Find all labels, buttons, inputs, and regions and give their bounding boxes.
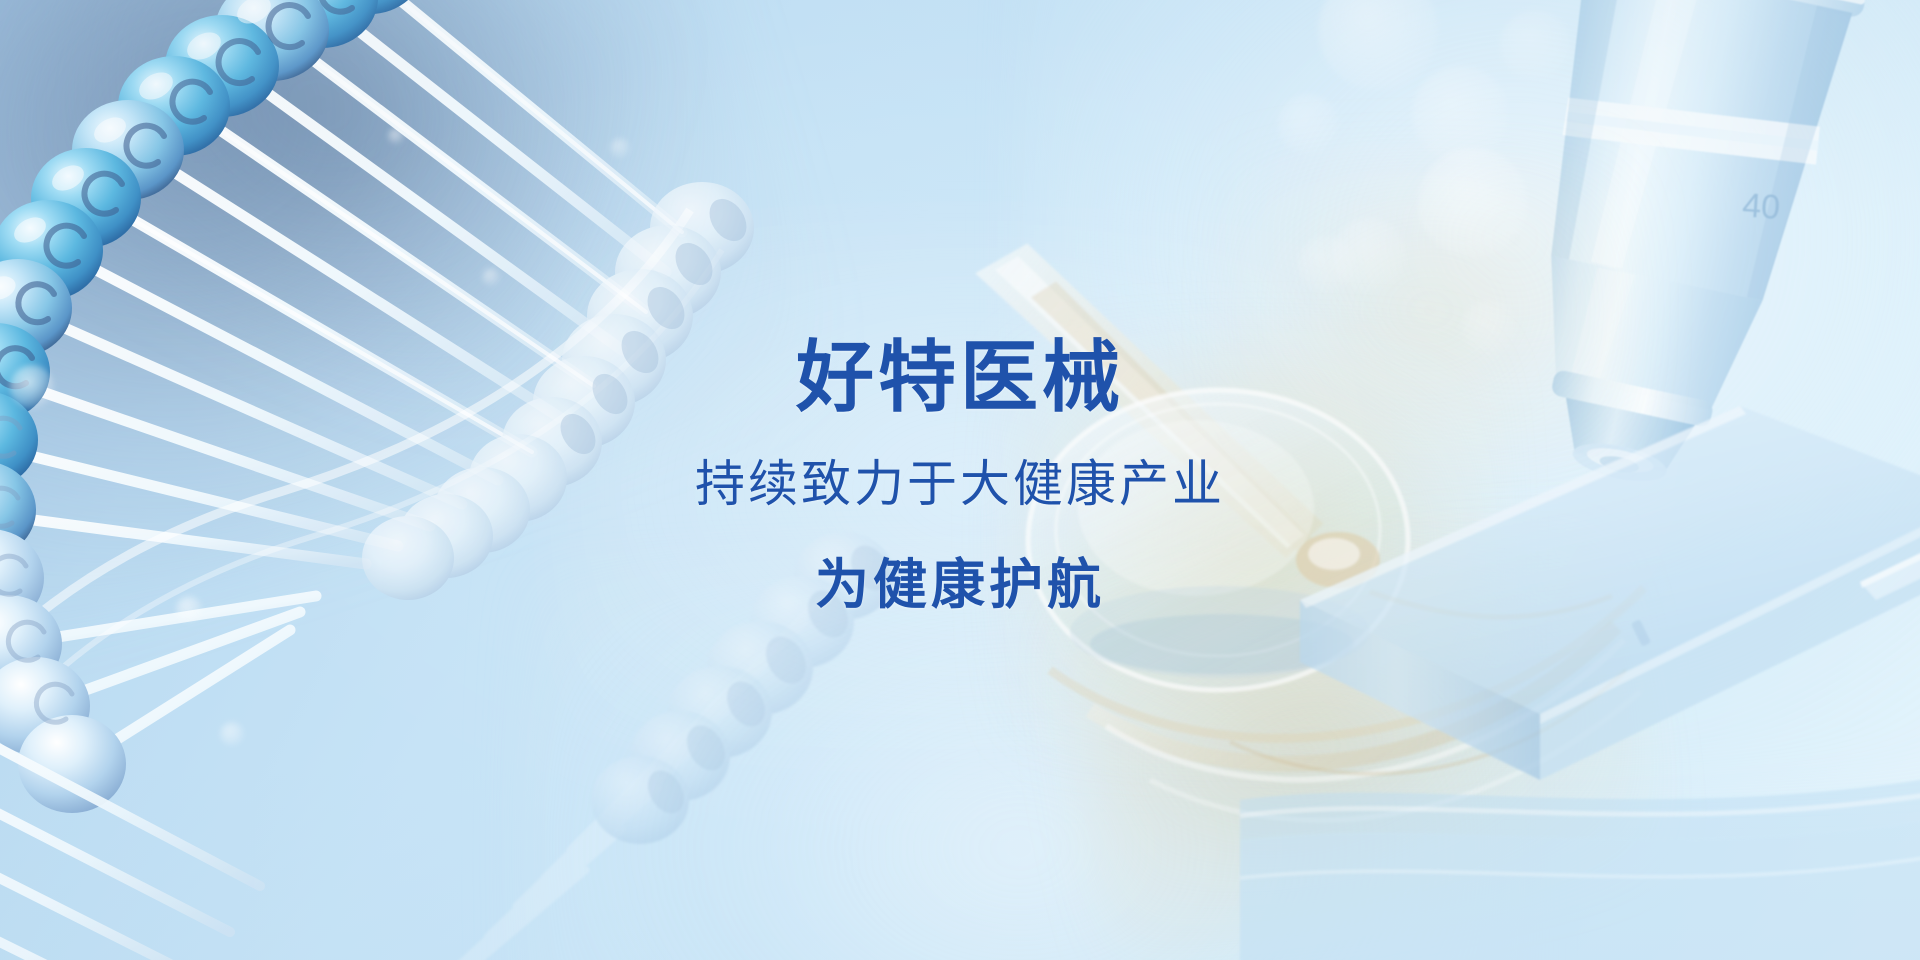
page-title: 好特医械 xyxy=(0,336,1920,419)
hero-banner: 40 xyxy=(0,0,1920,960)
hero-tagline: 为健康护航 xyxy=(0,556,1920,615)
hero-text-block: 好特医械 持续致力于大健康产业 为健康护航 xyxy=(0,336,1920,615)
hero-subtitle: 持续致力于大健康产业 xyxy=(0,457,1920,512)
